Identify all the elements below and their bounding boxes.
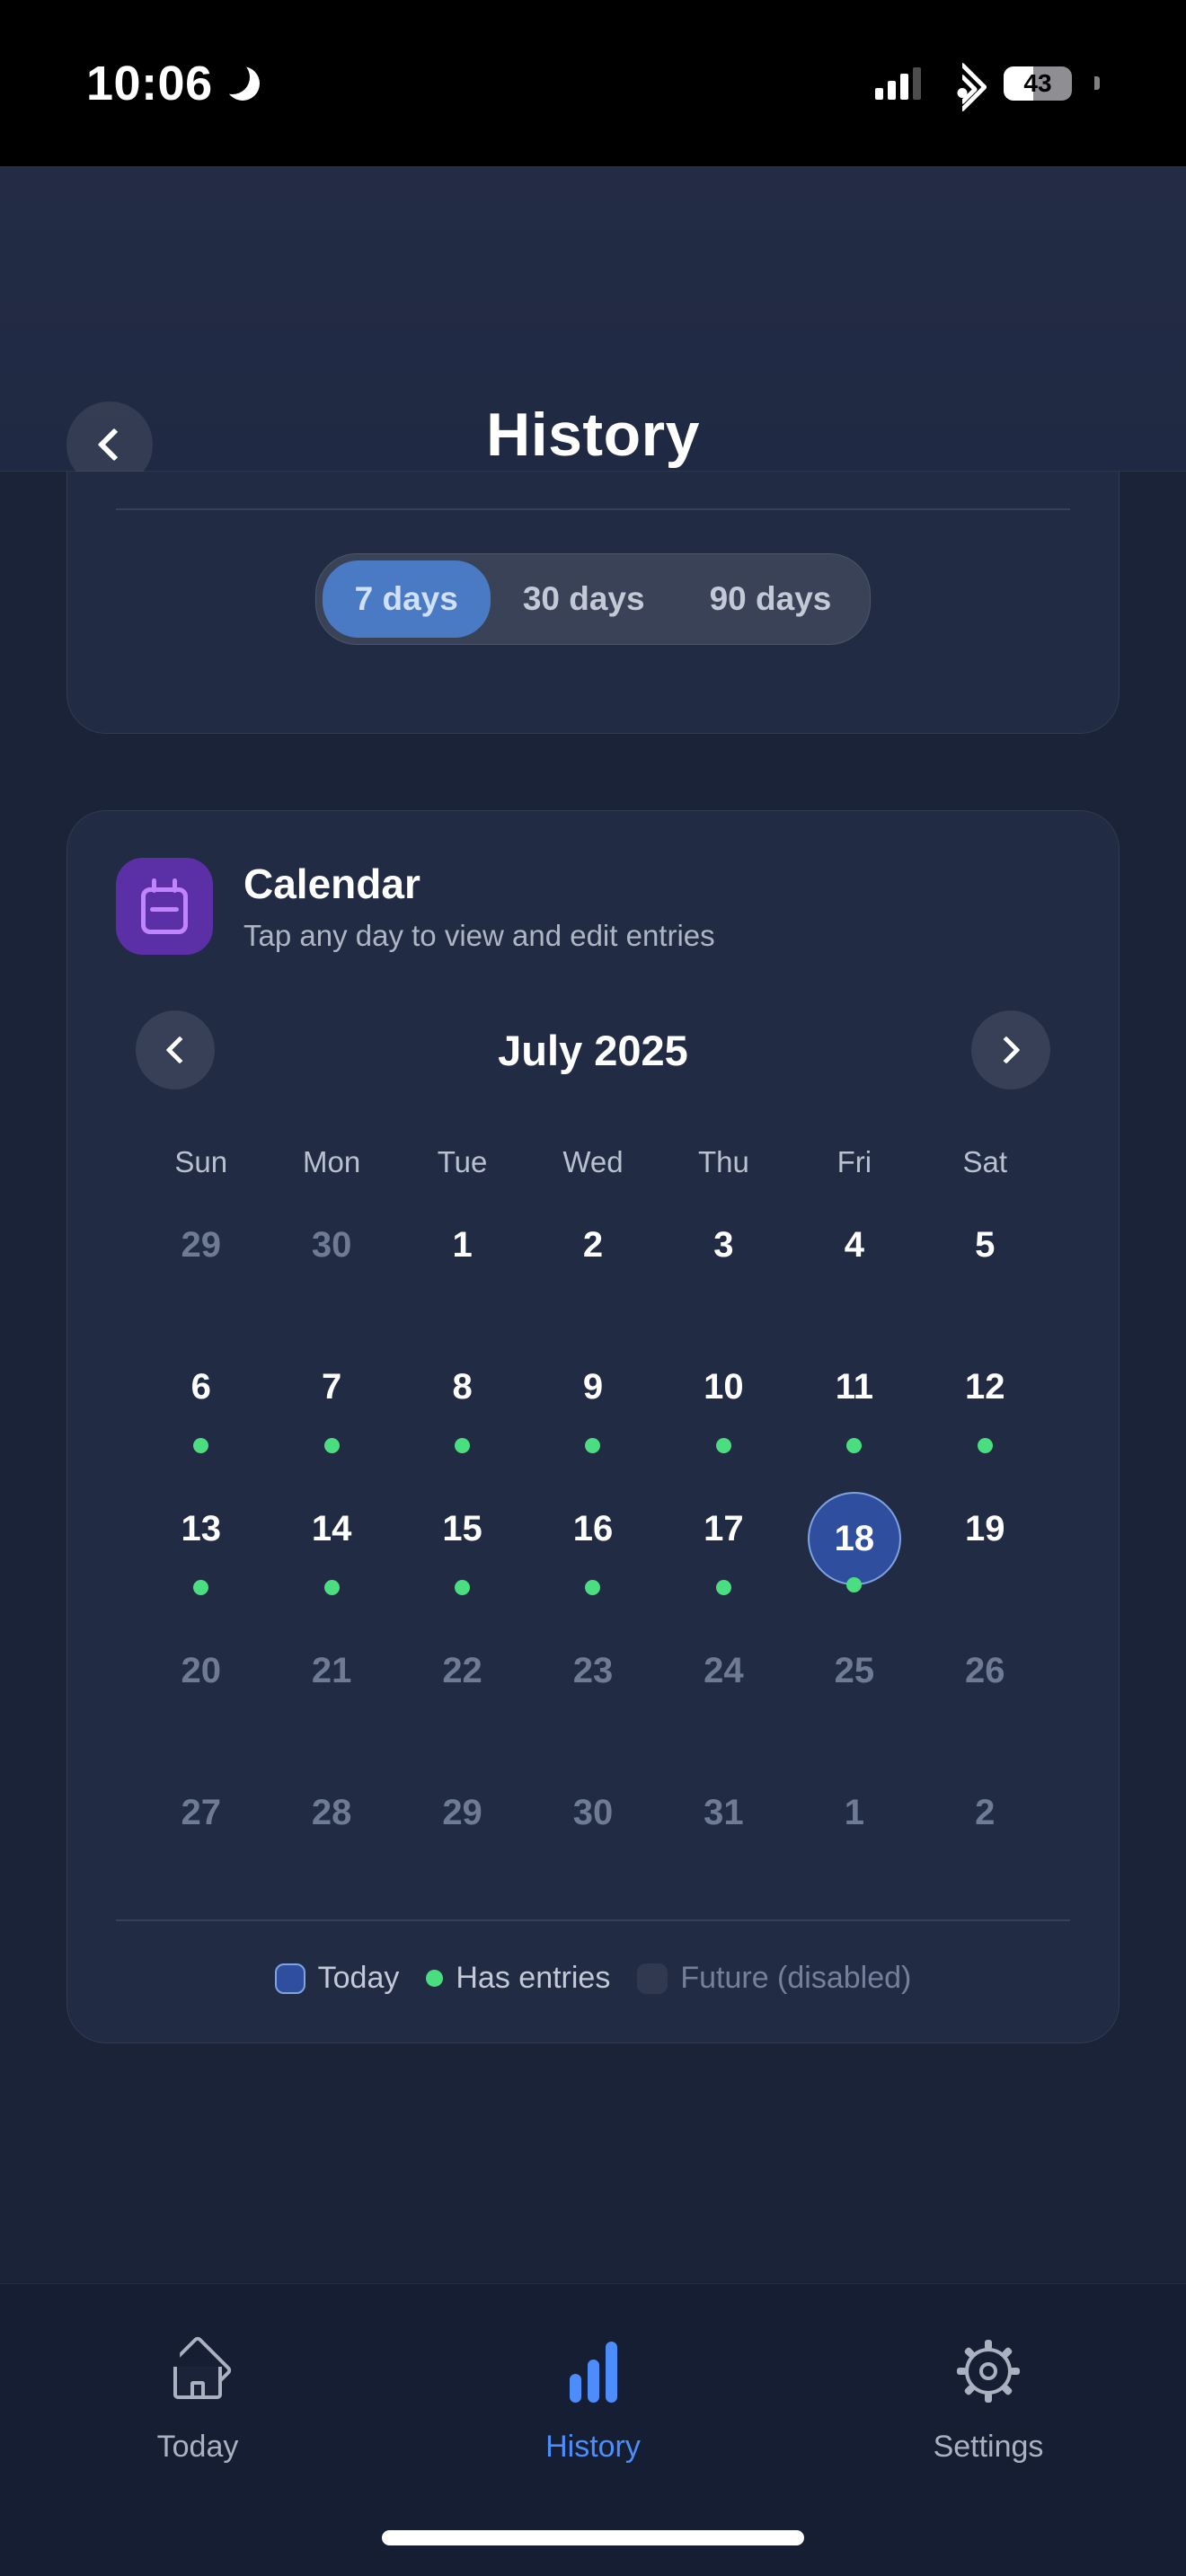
entry-dot-icon — [585, 1438, 600, 1453]
calendar-day-number: 1 — [808, 1767, 901, 1860]
calendar-day-cell[interactable]: 7 — [266, 1330, 396, 1463]
weekday-label: Sat — [920, 1145, 1050, 1179]
calendar-day-number: 19 — [938, 1483, 1031, 1576]
weekday-header-row: Sun Mon Tue Wed Thu Fri Sat — [67, 1145, 1119, 1179]
calendar-day-cell: 21 — [266, 1614, 396, 1747]
calendar-day-number: 5 — [938, 1199, 1031, 1292]
calendar-day-cell: 26 — [920, 1614, 1050, 1747]
calendar-day-number: 22 — [416, 1625, 509, 1718]
calendar-day-cell: 24 — [659, 1614, 789, 1747]
calendar-day-cell[interactable]: 16 — [527, 1472, 658, 1605]
calendar-day-cell: 30 — [266, 1188, 396, 1321]
calendar-day-cell[interactable]: 11 — [789, 1330, 919, 1463]
battery-percent: 43 — [1004, 69, 1072, 98]
calendar-day-number: 11 — [808, 1341, 901, 1434]
status-bar-right: 43 — [875, 66, 1100, 101]
weekday-label: Tue — [397, 1145, 527, 1179]
range-option-30days[interactable]: 30 days — [491, 560, 677, 638]
calendar-day-number: 18 — [808, 1492, 901, 1585]
chevron-right-icon — [993, 1036, 1021, 1063]
legend-label: Future (disabled) — [680, 1961, 911, 1996]
legend-item-future: Future (disabled) — [637, 1961, 911, 1996]
calendar-day-number: 30 — [546, 1767, 640, 1860]
calendar-legend: Today Has entries Future (disabled) — [67, 1921, 1119, 2042]
calendar-day-number: 16 — [546, 1483, 640, 1576]
status-bar: 10:06 43 — [0, 0, 1186, 166]
calendar-day-number: 1 — [416, 1199, 509, 1292]
calendar-day-cell: 20 — [136, 1614, 266, 1747]
weekday-label: Fri — [789, 1145, 919, 1179]
calendar-day-cell: 28 — [266, 1756, 396, 1889]
calendar-day-cell: 29 — [397, 1756, 527, 1889]
moon-icon — [226, 66, 260, 101]
calendar-day-cell: 25 — [789, 1614, 919, 1747]
calendar-day-number: 29 — [155, 1199, 248, 1292]
entry-dot-icon — [193, 1580, 208, 1595]
calendar-card: Calendar Tap any day to view and edit en… — [66, 810, 1120, 2043]
calendar-day-cell[interactable]: 10 — [659, 1330, 789, 1463]
segmented-control[interactable]: 7 days 30 days 90 days — [315, 553, 872, 645]
entry-dot-icon — [455, 1438, 470, 1453]
calendar-day-number: 2 — [546, 1199, 640, 1292]
calendar-day-number: 2 — [938, 1767, 1031, 1860]
calendar-day-number: 24 — [677, 1625, 770, 1718]
battery-icon: 43 — [1004, 66, 1072, 101]
weekday-label: Mon — [266, 1145, 396, 1179]
next-month-button[interactable] — [971, 1010, 1050, 1090]
home-indicator — [382, 2530, 804, 2545]
calendar-day-number: 27 — [155, 1767, 248, 1860]
calendar-day-cell[interactable]: 4 — [789, 1188, 919, 1321]
calendar-day-cell[interactable]: 6 — [136, 1330, 266, 1463]
calendar-day-number: 13 — [155, 1483, 248, 1576]
home-icon — [166, 2340, 229, 2403]
calendar-week-row: 272829303112 — [67, 1756, 1119, 1889]
range-option-90days[interactable]: 90 days — [677, 560, 864, 638]
tab-history[interactable]: History — [395, 2340, 791, 2465]
month-label: July 2025 — [498, 1026, 688, 1075]
calendar-day-cell[interactable]: 3 — [659, 1188, 789, 1321]
calendar-day-number: 26 — [938, 1625, 1031, 1718]
month-navigation: July 2025 — [67, 955, 1119, 1090]
calendar-day-cell: 27 — [136, 1756, 266, 1889]
legend-label: Has entries — [456, 1961, 610, 1996]
today-swatch-icon — [275, 1963, 305, 1994]
cellular-signal-icon — [875, 67, 921, 100]
entry-dot-icon — [455, 1580, 470, 1595]
weekday-label: Wed — [527, 1145, 658, 1179]
legend-item-has-entries: Has entries — [426, 1961, 610, 1996]
entry-dot-icon — [585, 1580, 600, 1595]
calendar-day-cell[interactable]: 8 — [397, 1330, 527, 1463]
scroll-content[interactable]: 7 days 30 days 90 days Calendar Tap any … — [0, 472, 1186, 2283]
calendar-day-number: 15 — [416, 1483, 509, 1576]
calendar-day-number: 31 — [677, 1767, 770, 1860]
battery-tip — [1094, 76, 1100, 90]
calendar-day-cell[interactable]: 12 — [920, 1330, 1050, 1463]
app-screen: 10:06 43 History Your calorie tracking h… — [0, 0, 1186, 2576]
calendar-day-cell: 22 — [397, 1614, 527, 1747]
range-option-7days[interactable]: 7 days — [323, 560, 491, 638]
legend-item-today: Today — [275, 1961, 400, 1996]
calendar-day-number: 3 — [677, 1199, 770, 1292]
entry-dot-icon — [426, 1970, 443, 1987]
calendar-day-cell: 2 — [920, 1756, 1050, 1889]
future-swatch-icon — [637, 1963, 668, 1994]
calendar-icon — [141, 878, 188, 934]
calendar-day-cell[interactable]: 19 — [920, 1472, 1050, 1605]
calendar-day-cell[interactable]: 5 — [920, 1188, 1050, 1321]
calendar-day-number: 4 — [808, 1199, 901, 1292]
entry-dot-icon — [193, 1438, 208, 1453]
calendar-day-number: 14 — [285, 1483, 378, 1576]
calendar-day-cell: 1 — [789, 1756, 919, 1889]
entry-dot-icon — [324, 1580, 340, 1595]
calendar-day-cell: 30 — [527, 1756, 658, 1889]
calendar-day-number: 6 — [155, 1341, 248, 1434]
entry-dot-icon — [846, 1577, 862, 1592]
calendar-day-cell: 29 — [136, 1188, 266, 1321]
calendar-week-row: 6789101112 — [67, 1330, 1119, 1463]
calendar-day-number: 7 — [285, 1341, 378, 1434]
tab-label: History — [545, 2430, 641, 2465]
tab-label: Today — [157, 2430, 239, 2465]
legend-label: Today — [318, 1961, 400, 1996]
tab-today[interactable]: Today — [0, 2340, 395, 2465]
calendar-week-row: 13141516171819 — [67, 1472, 1119, 1605]
status-bar-left: 10:06 — [86, 56, 260, 111]
calendar-day-number: 8 — [416, 1341, 509, 1434]
chevron-left-icon — [165, 1036, 193, 1063]
calendar-grid: 2930123456789101112131415161718192021222… — [67, 1188, 1119, 1889]
entry-dot-icon — [978, 1438, 993, 1453]
calendar-day-number: 12 — [938, 1341, 1031, 1434]
calendar-day-number: 10 — [677, 1341, 770, 1434]
entry-dot-icon — [716, 1438, 731, 1453]
page-title: History — [0, 400, 1186, 470]
calendar-day-number: 17 — [677, 1483, 770, 1576]
calendar-subtitle: Tap any day to view and edit entries — [243, 919, 715, 953]
calendar-week-row: 293012345 — [67, 1188, 1119, 1321]
calendar-day-cell[interactable]: 9 — [527, 1330, 658, 1463]
calendar-title: Calendar — [243, 860, 715, 908]
calendar-day-cell[interactable]: 1 — [397, 1188, 527, 1321]
calendar-day-number: 23 — [546, 1625, 640, 1718]
calendar-day-number: 28 — [285, 1767, 378, 1860]
tab-settings[interactable]: Settings — [791, 2340, 1186, 2465]
calendar-day-cell[interactable]: 2 — [527, 1188, 658, 1321]
bottom-tab-bar: Today History Settings — [0, 2283, 1186, 2576]
page-header: History Your calorie tracking history — [0, 166, 1186, 472]
calendar-header-text: Calendar Tap any day to view and edit en… — [243, 860, 715, 953]
status-time: 10:06 — [86, 56, 213, 111]
calendar-day-number: 9 — [546, 1341, 640, 1434]
entry-dot-icon — [716, 1580, 731, 1595]
gear-icon — [957, 2340, 1020, 2403]
calendar-day-cell: 23 — [527, 1614, 658, 1747]
calendar-day-cell[interactable]: 14 — [266, 1472, 396, 1605]
calendar-day-number: 21 — [285, 1625, 378, 1718]
calendar-day-cell[interactable]: 13 — [136, 1472, 266, 1605]
calendar-day-number: 30 — [285, 1199, 378, 1292]
calendar-day-cell[interactable]: 17 — [659, 1472, 789, 1605]
previous-month-button[interactable] — [136, 1010, 215, 1090]
calendar-day-cell: 31 — [659, 1756, 789, 1889]
calendar-week-row: 20212223242526 — [67, 1614, 1119, 1747]
weekday-label: Thu — [659, 1145, 789, 1179]
weekday-label: Sun — [136, 1145, 266, 1179]
entry-dot-icon — [846, 1438, 862, 1453]
wifi-icon — [941, 67, 984, 100]
calendar-card-header: Calendar Tap any day to view and edit en… — [67, 858, 1119, 955]
calendar-day-number: 29 — [416, 1767, 509, 1860]
calendar-day-cell[interactable]: 15 — [397, 1472, 527, 1605]
tab-label: Settings — [934, 2430, 1044, 2465]
range-card: 7 days 30 days 90 days — [66, 472, 1120, 734]
calendar-day-cell[interactable]: 18 — [789, 1472, 919, 1605]
calendar-day-number: 20 — [155, 1625, 248, 1718]
calendar-icon-badge — [116, 858, 213, 955]
bar-chart-icon — [562, 2340, 624, 2403]
calendar-day-number: 25 — [808, 1625, 901, 1718]
range-selector[interactable]: 7 days 30 days 90 days — [67, 510, 1119, 697]
entry-dot-icon — [324, 1438, 340, 1453]
